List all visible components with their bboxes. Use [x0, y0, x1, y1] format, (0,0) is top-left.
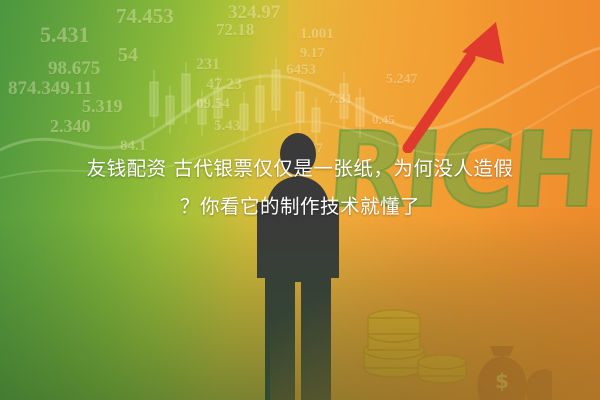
- headline-line-1: 友钱配资 古代银票仅仅是一张纸，为何没人造假: [14, 150, 586, 188]
- headline-text: 友钱配资 古代银票仅仅是一张纸，为何没人造假 ？你看它的制作技术就懂了: [0, 150, 600, 226]
- headline-line-2: ？你看它的制作技术就懂了: [14, 188, 586, 226]
- bottom-shade-right: [270, 208, 600, 400]
- screenshot-canvas: RICH 74.453 324.97 5.431: [0, 0, 600, 400]
